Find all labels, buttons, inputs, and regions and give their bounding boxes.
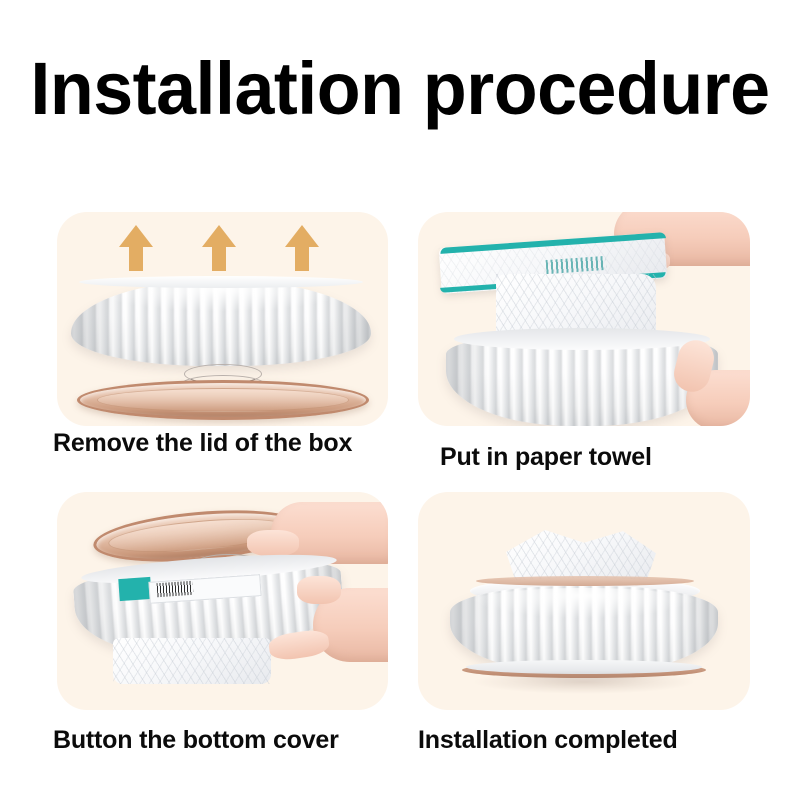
rose-gold-base-tray — [77, 380, 369, 420]
rose-gold-rim-top — [476, 576, 694, 586]
arrow-up-icon — [119, 225, 153, 271]
step-1-caption: Remove the lid of the box — [53, 429, 352, 458]
up-arrows-group — [119, 225, 319, 271]
step-4-caption: Installation completed — [418, 726, 678, 755]
box-top-opening — [454, 328, 710, 350]
drop-shadow — [472, 670, 696, 694]
thumb — [297, 576, 341, 604]
barcode-icon — [157, 581, 194, 597]
tissue-hanging — [113, 638, 271, 684]
step-2-illustration — [418, 212, 750, 426]
step-2-caption: Put in paper towel — [440, 443, 652, 472]
step-3-caption: Button the bottom cover — [53, 726, 339, 755]
arrow-up-icon — [285, 225, 319, 271]
ribbed-lid — [71, 280, 371, 366]
arrow-up-icon — [202, 225, 236, 271]
step-1-illustration — [57, 212, 388, 426]
step-panel-3 — [57, 492, 388, 710]
step-panel-4 — [418, 492, 750, 710]
steps-grid: Remove the lid of the box — [0, 0, 800, 800]
lid-rim — [79, 276, 363, 288]
step-panel-2 — [418, 212, 750, 426]
pack-teal-label — [118, 577, 151, 601]
infographic-page: Installation procedure — [0, 0, 800, 800]
step-3-illustration — [57, 492, 388, 710]
finger — [247, 530, 299, 556]
step-4-illustration — [418, 492, 750, 710]
step-panel-1 — [57, 212, 388, 426]
